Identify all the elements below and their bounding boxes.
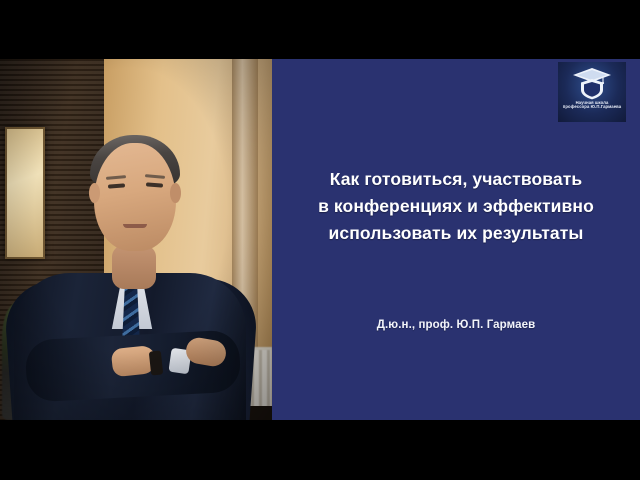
- slide-headline: Как готовиться, участвовать в конференци…: [272, 166, 640, 247]
- title-panel: Научная школа профессора Ю.П.Гармаева Ка…: [272, 59, 640, 420]
- subject-neck: [112, 245, 156, 289]
- headline-line-3: использовать их результаты: [272, 220, 640, 247]
- headline-line-1: Как готовиться, участвовать: [272, 166, 640, 193]
- subject-right-ear: [170, 183, 181, 203]
- speaker-photo: [0, 59, 272, 420]
- video-letterbox-frame: Научная школа профессора Ю.П.Гармаева Ка…: [0, 0, 640, 480]
- photo-subject: [0, 59, 272, 420]
- headline-line-2: в конференциях и эффективно: [272, 193, 640, 220]
- subject-mouth: [123, 224, 147, 228]
- scientific-school-logo: Научная школа профессора Ю.П.Гармаева: [558, 62, 626, 122]
- logo-text: Научная школа профессора Ю.П.Гармаева: [563, 101, 621, 110]
- slide-stage: Научная школа профессора Ю.П.Гармаева Ка…: [0, 59, 640, 420]
- logo-text-line-2: профессора Ю.П.Гармаева: [563, 105, 621, 109]
- graduation-cap-shield-icon: [572, 66, 612, 100]
- subject-face: [94, 143, 176, 251]
- subject-wristwatch: [149, 350, 163, 375]
- subject-left-ear: [89, 183, 100, 203]
- speaker-byline: Д.ю.н., проф. Ю.П. Гармаев: [272, 319, 640, 331]
